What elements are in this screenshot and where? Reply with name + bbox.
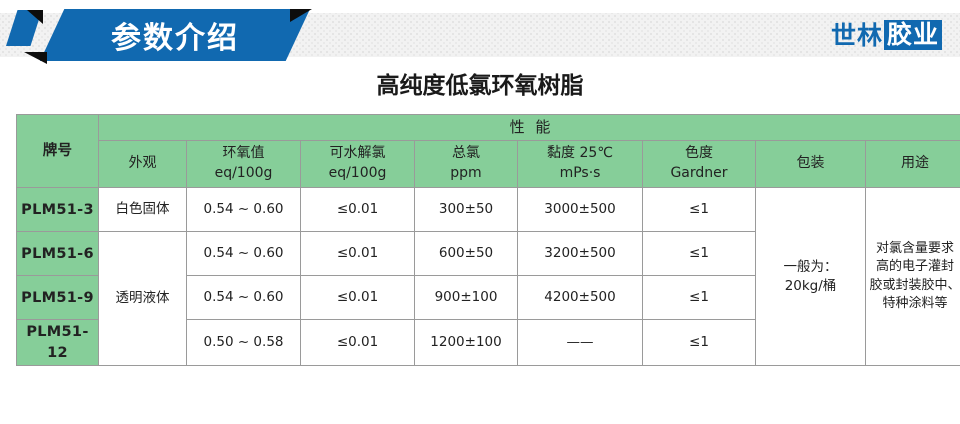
cell-appearance-merged: 透明液体 bbox=[99, 232, 187, 366]
header-cell-performance-group: 性 能 bbox=[99, 115, 960, 141]
cell-total-chlorine: 900±100 bbox=[415, 276, 518, 320]
table-header-row-columns: 外观 环氧值 eq/100g 可水解氯 eq/100g 总氯 ppm 黏度 25… bbox=[17, 141, 960, 188]
header-cell-total-chlorine-line2: ppm bbox=[418, 164, 514, 184]
header-cell-total-chlorine: 总氯 ppm bbox=[415, 141, 518, 188]
header-cell-viscosity-line2: mPs·s bbox=[521, 164, 639, 184]
cell-epoxy-value: 0.50 ~ 0.58 bbox=[187, 320, 301, 366]
header-cell-color-gardner: 色度 Gardner bbox=[643, 141, 756, 188]
cell-usage-line4: 特种涂料等 bbox=[869, 295, 960, 313]
header-cell-hydrolyzable-line1: 可水解氯 bbox=[304, 144, 411, 164]
header-cell-usage: 用途 bbox=[866, 141, 960, 188]
cell-brand: PLM51-9 bbox=[17, 276, 99, 320]
brand-logo: 世林 胶业 bbox=[831, 20, 942, 50]
header-cell-total-chlorine-line1: 总氯 bbox=[418, 144, 514, 164]
section-title: 参数介绍 bbox=[40, 9, 310, 61]
header-cell-viscosity-line1: 黏度 25℃ bbox=[521, 144, 639, 164]
header-cell-appearance: 外观 bbox=[99, 141, 187, 188]
header-cell-color-line2: Gardner bbox=[646, 164, 752, 184]
header-cell-viscosity: 黏度 25℃ mPs·s bbox=[518, 141, 643, 188]
cell-usage-line3: 胶或封装胶中、 bbox=[869, 277, 960, 295]
header-cell-epoxy-value-line1: 环氧值 bbox=[190, 144, 297, 164]
table-header-row-group: 牌号 性 能 bbox=[17, 115, 960, 141]
cell-total-chlorine: 300±50 bbox=[415, 188, 518, 232]
cell-usage-merged: 对氯含量要求 高的电子灌封 胶或封装胶中、 特种涂料等 bbox=[866, 188, 960, 366]
cell-epoxy-value: 0.54 ~ 0.60 bbox=[187, 188, 301, 232]
header-cell-hydrolyzable-chlorine: 可水解氯 eq/100g bbox=[301, 141, 415, 188]
cell-total-chlorine: 1200±100 bbox=[415, 320, 518, 366]
header-cell-color-line1: 色度 bbox=[646, 144, 752, 164]
cell-color-gardner: ≤1 bbox=[643, 276, 756, 320]
cell-viscosity: —— bbox=[518, 320, 643, 366]
page-title: 高纯度低氯环氧树脂 bbox=[0, 66, 960, 100]
cell-packaging-line2: 20kg/桶 bbox=[759, 277, 862, 296]
cell-total-chlorine: 600±50 bbox=[415, 232, 518, 276]
header-cell-packaging: 包装 bbox=[756, 141, 866, 188]
cell-color-gardner: ≤1 bbox=[643, 232, 756, 276]
cell-hydrolyzable-chlorine: ≤0.01 bbox=[301, 320, 415, 366]
cell-hydrolyzable-chlorine: ≤0.01 bbox=[301, 276, 415, 320]
header-cell-brand: 牌号 bbox=[17, 115, 99, 188]
cell-brand: PLM51-6 bbox=[17, 232, 99, 276]
section-ribbon: 参数介绍 bbox=[0, 0, 340, 72]
cell-viscosity: 4200±500 bbox=[518, 276, 643, 320]
cell-epoxy-value: 0.54 ~ 0.60 bbox=[187, 232, 301, 276]
brand-logo-primary-text: 世林 bbox=[831, 23, 884, 48]
cell-viscosity: 3200±500 bbox=[518, 232, 643, 276]
cell-brand: PLM51-12 bbox=[17, 320, 99, 366]
cell-usage-line2: 高的电子灌封 bbox=[869, 258, 960, 276]
cell-color-gardner: ≤1 bbox=[643, 320, 756, 366]
cell-hydrolyzable-chlorine: ≤0.01 bbox=[301, 188, 415, 232]
cell-packaging-merged: 一般为： 20kg/桶 bbox=[756, 188, 866, 366]
header-cell-epoxy-value-line2: eq/100g bbox=[190, 164, 297, 184]
cell-epoxy-value: 0.54 ~ 0.60 bbox=[187, 276, 301, 320]
cell-viscosity: 3000±500 bbox=[518, 188, 643, 232]
cell-brand: PLM51-3 bbox=[17, 188, 99, 232]
brand-logo-highlight-text: 胶业 bbox=[884, 20, 942, 50]
cell-hydrolyzable-chlorine: ≤0.01 bbox=[301, 232, 415, 276]
table-row: PLM51-3 白色固体 0.54 ~ 0.60 ≤0.01 300±50 30… bbox=[17, 188, 960, 232]
specification-table: 牌号 性 能 外观 环氧值 eq/100g 可水解氯 eq/100g 总氯 pp… bbox=[16, 114, 960, 366]
cell-packaging-line1: 一般为： bbox=[759, 258, 862, 277]
cell-appearance: 白色固体 bbox=[99, 188, 187, 232]
cell-color-gardner: ≤1 bbox=[643, 188, 756, 232]
cell-usage-line1: 对氯含量要求 bbox=[869, 240, 960, 258]
header-cell-epoxy-value: 环氧值 eq/100g bbox=[187, 141, 301, 188]
header-cell-hydrolyzable-line2: eq/100g bbox=[304, 164, 411, 184]
